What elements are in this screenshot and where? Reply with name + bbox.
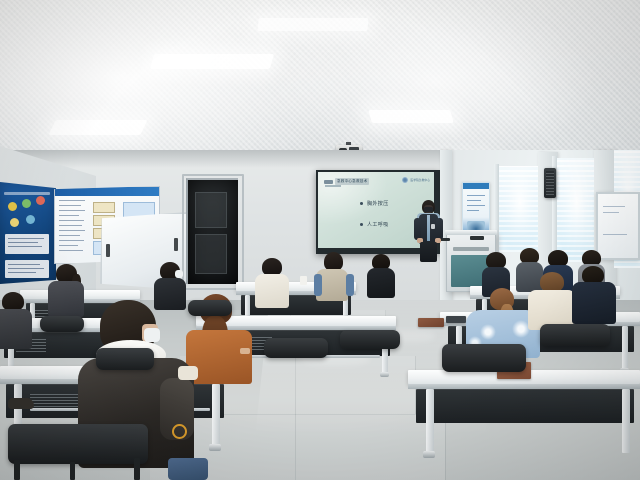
bullet-text: 胸外按压 [367,200,389,207]
chair[interactable] [40,316,84,332]
lectern-object [470,236,484,240]
right-whiteboard [596,192,640,260]
bullet-dot-icon [360,223,363,226]
logo-mark-icon [402,177,408,183]
chair[interactable] [340,330,400,349]
paper-cup[interactable] [300,276,307,285]
slide-logo-text: 医学院急救中心 [410,178,430,182]
chair[interactable] [188,300,232,316]
presenter-shirt-front [427,215,430,241]
chair[interactable] [8,424,148,464]
slide-subtitle-rule [325,185,341,187]
ceiling-light-panel [257,18,368,31]
notebook[interactable] [418,318,444,327]
slide-title-row: 急救中心急救技术 [324,178,369,185]
classroom-scene: 急救中心急救技术 医学院急救中心 胸外按压 人工呼吸 [0,0,640,480]
presenter-badge [431,224,435,229]
slide-logo: 医学院急救中心 [402,177,430,183]
notebook[interactable] [446,316,466,323]
speaker-grill-icon [546,171,554,195]
chair[interactable] [96,348,154,370]
chair[interactable] [442,344,526,372]
slide-title-text: 急救中心急救技术 [335,178,369,185]
presenter [414,200,444,262]
lectern-top [445,230,497,235]
wall-speaker [544,168,556,198]
lectern-drawer [453,247,489,251]
face-mask-icon [424,207,433,212]
ceiling-light-panel [150,54,274,69]
bullet-text: 人工呼吸 [367,221,389,228]
wall-poster-blue [0,182,56,284]
chair[interactable] [264,338,328,358]
window-blind [498,166,538,252]
bullet-dot-icon [360,202,363,205]
slide-bullet-item: 人工呼吸 [360,221,389,228]
ceiling-light-panel [368,110,454,123]
slide-bullet-item: 胸外按压 [360,200,389,207]
banner-header [463,183,489,189]
slide-tag-icon [324,180,333,184]
slide-bullet-list: 胸外按压 人工呼吸 [360,200,389,242]
presenter-legs [420,242,437,262]
chair[interactable] [540,324,610,346]
doorway[interactable] [186,178,238,284]
shoe [8,398,34,409]
ceiling-light-panel [48,120,147,135]
window-blind [556,158,594,262]
